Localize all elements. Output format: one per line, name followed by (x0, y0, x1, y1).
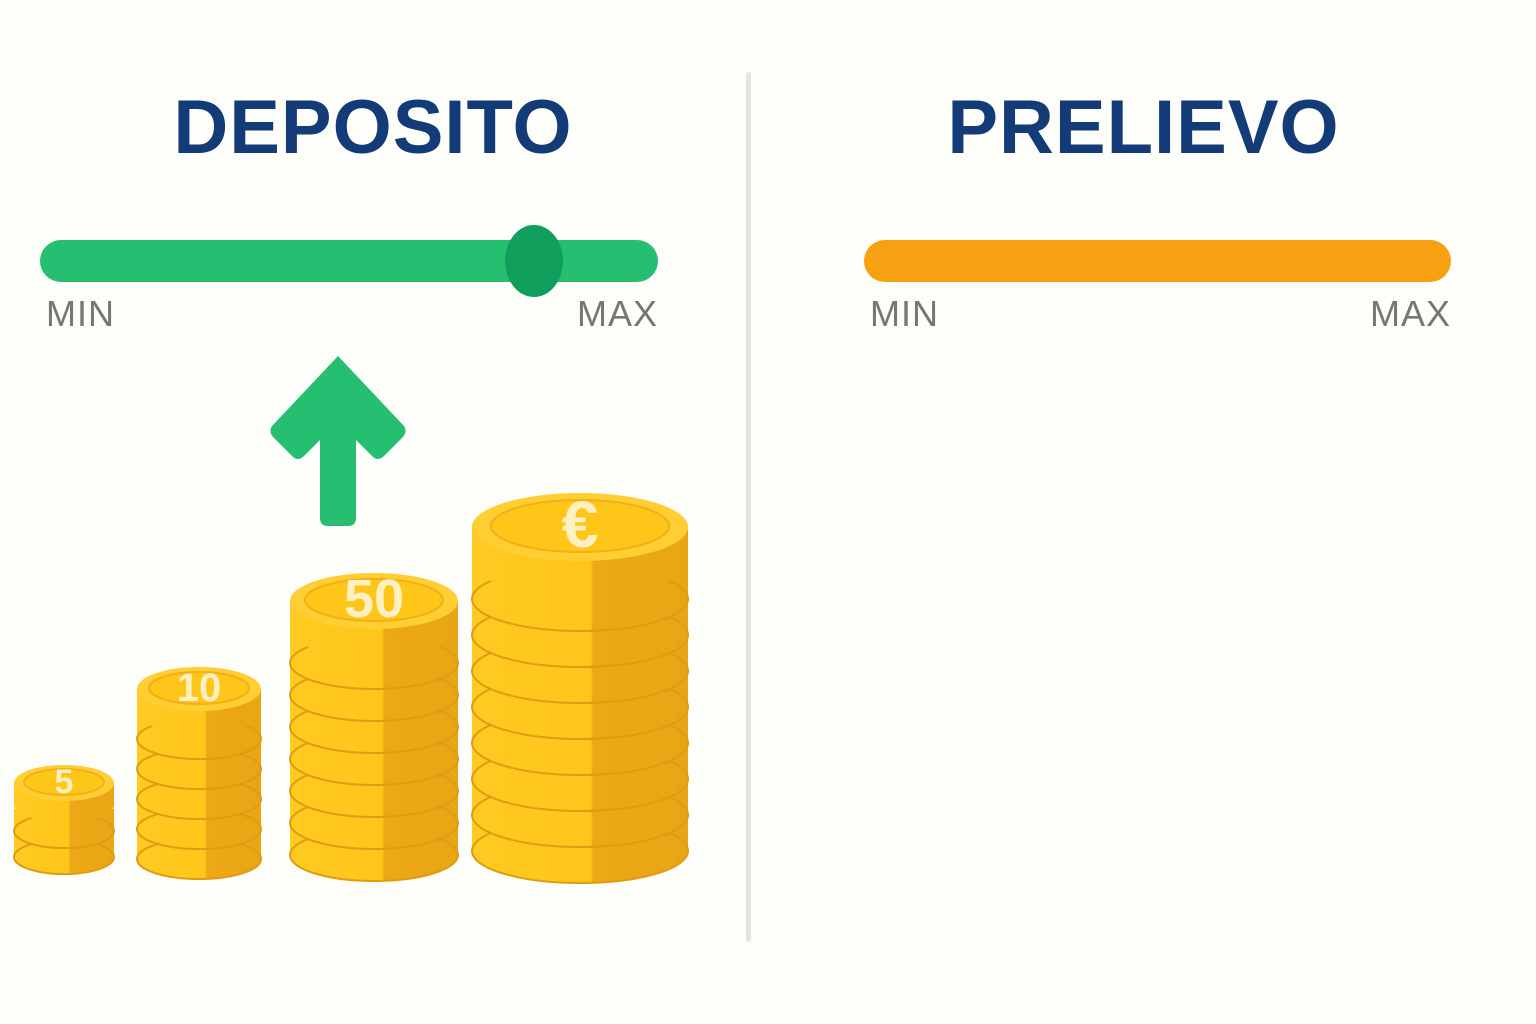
deposit-slider[interactable]: MIN MAX (40, 240, 658, 338)
coin-label-10: 10 (177, 666, 222, 710)
coin-label-5: 5 (55, 763, 74, 801)
coin-stack-5: 5 (10, 745, 118, 900)
infographic-canvas: DEPOSITO MIN MAX (0, 0, 1536, 1024)
deposit-slider-min-label: MIN (46, 296, 115, 332)
coin-label-euro: € (562, 487, 599, 561)
coin-stack-50: 50 (285, 555, 463, 900)
withdraw-panel: PRELIEVO MIN MAX (751, 0, 1536, 1024)
withdraw-slider-track[interactable] (864, 240, 1451, 282)
coin-stack-10: 10 (133, 655, 265, 900)
arrow-up-icon (268, 352, 408, 532)
deposit-panel: DEPOSITO MIN MAX (0, 0, 746, 1024)
coin-label-50: 50 (344, 569, 404, 629)
deposit-slider-track[interactable] (40, 240, 658, 282)
deposit-slider-max-label: MAX (577, 296, 658, 332)
withdraw-slider-min-label: MIN (870, 296, 939, 332)
withdraw-slider[interactable]: MIN MAX (864, 240, 1451, 338)
deposit-slider-thumb[interactable] (505, 225, 563, 297)
deposit-title: DEPOSITO (0, 90, 746, 166)
withdraw-title: PRELIEVO (751, 90, 1536, 166)
withdraw-slider-max-label: MAX (1370, 296, 1451, 332)
deposit-slider-labels: MIN MAX (40, 296, 658, 338)
coin-stack-euro: € (466, 465, 694, 900)
withdraw-slider-labels: MIN MAX (864, 296, 1451, 338)
